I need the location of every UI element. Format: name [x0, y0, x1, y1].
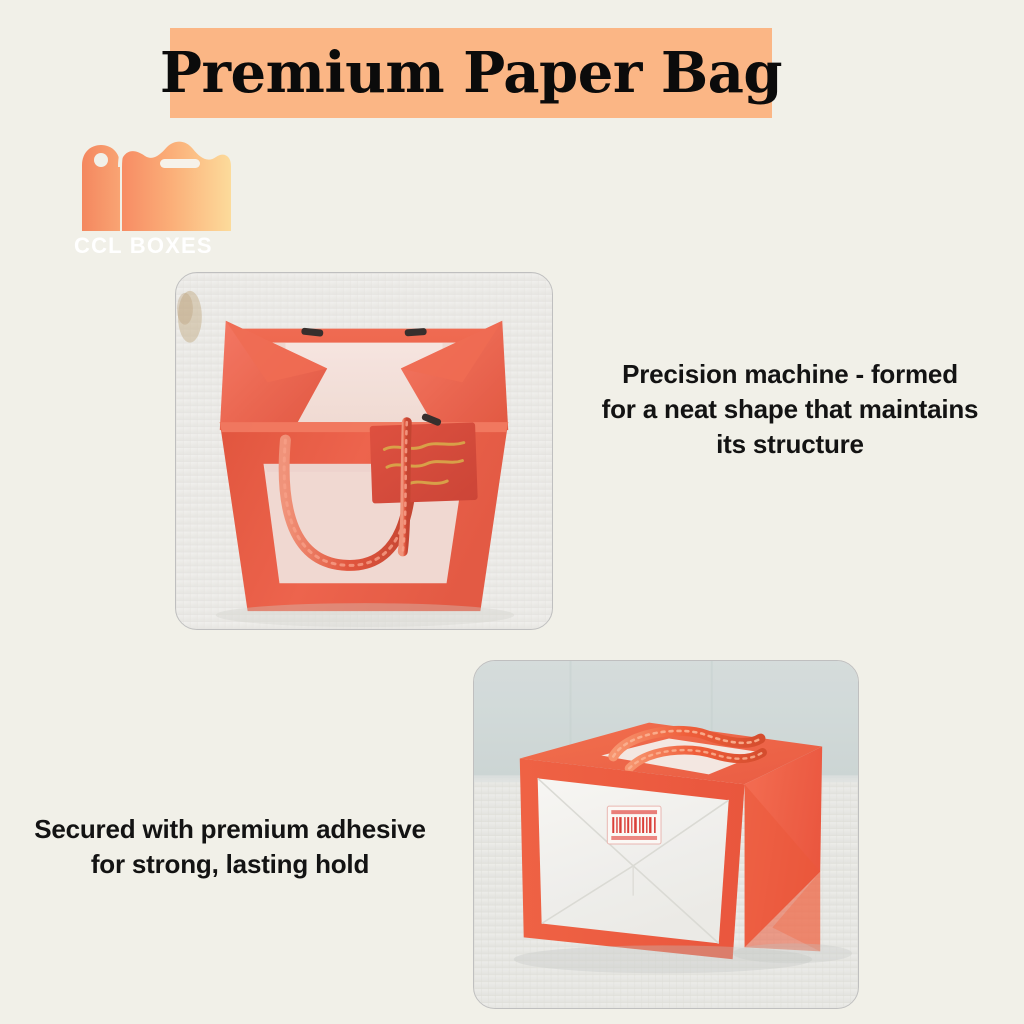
feature-caption-precision: Precision machine - formed for a neat sh…	[572, 357, 1008, 461]
caption-line: Secured with premium adhesive	[4, 812, 456, 847]
brand-name: CCL BOXES	[74, 233, 289, 259]
page-title: Premium Paper Bag	[160, 45, 782, 101]
caption-line: for strong, lasting hold	[4, 847, 456, 882]
product-photo-open-bag	[175, 272, 553, 630]
caption-line: Precision machine - formed	[572, 357, 1008, 392]
caption-line: its structure	[572, 427, 1008, 462]
title-banner: Premium Paper Bag	[170, 28, 772, 118]
caption-line: for a neat shape that maintains	[572, 392, 1008, 427]
paper-bags-logo-icon	[60, 133, 275, 231]
product-photo-bag-base	[473, 660, 859, 1009]
feature-caption-adhesive: Secured with premium adhesive for strong…	[4, 812, 456, 882]
brand-logo: CCL BOXES	[60, 133, 275, 263]
